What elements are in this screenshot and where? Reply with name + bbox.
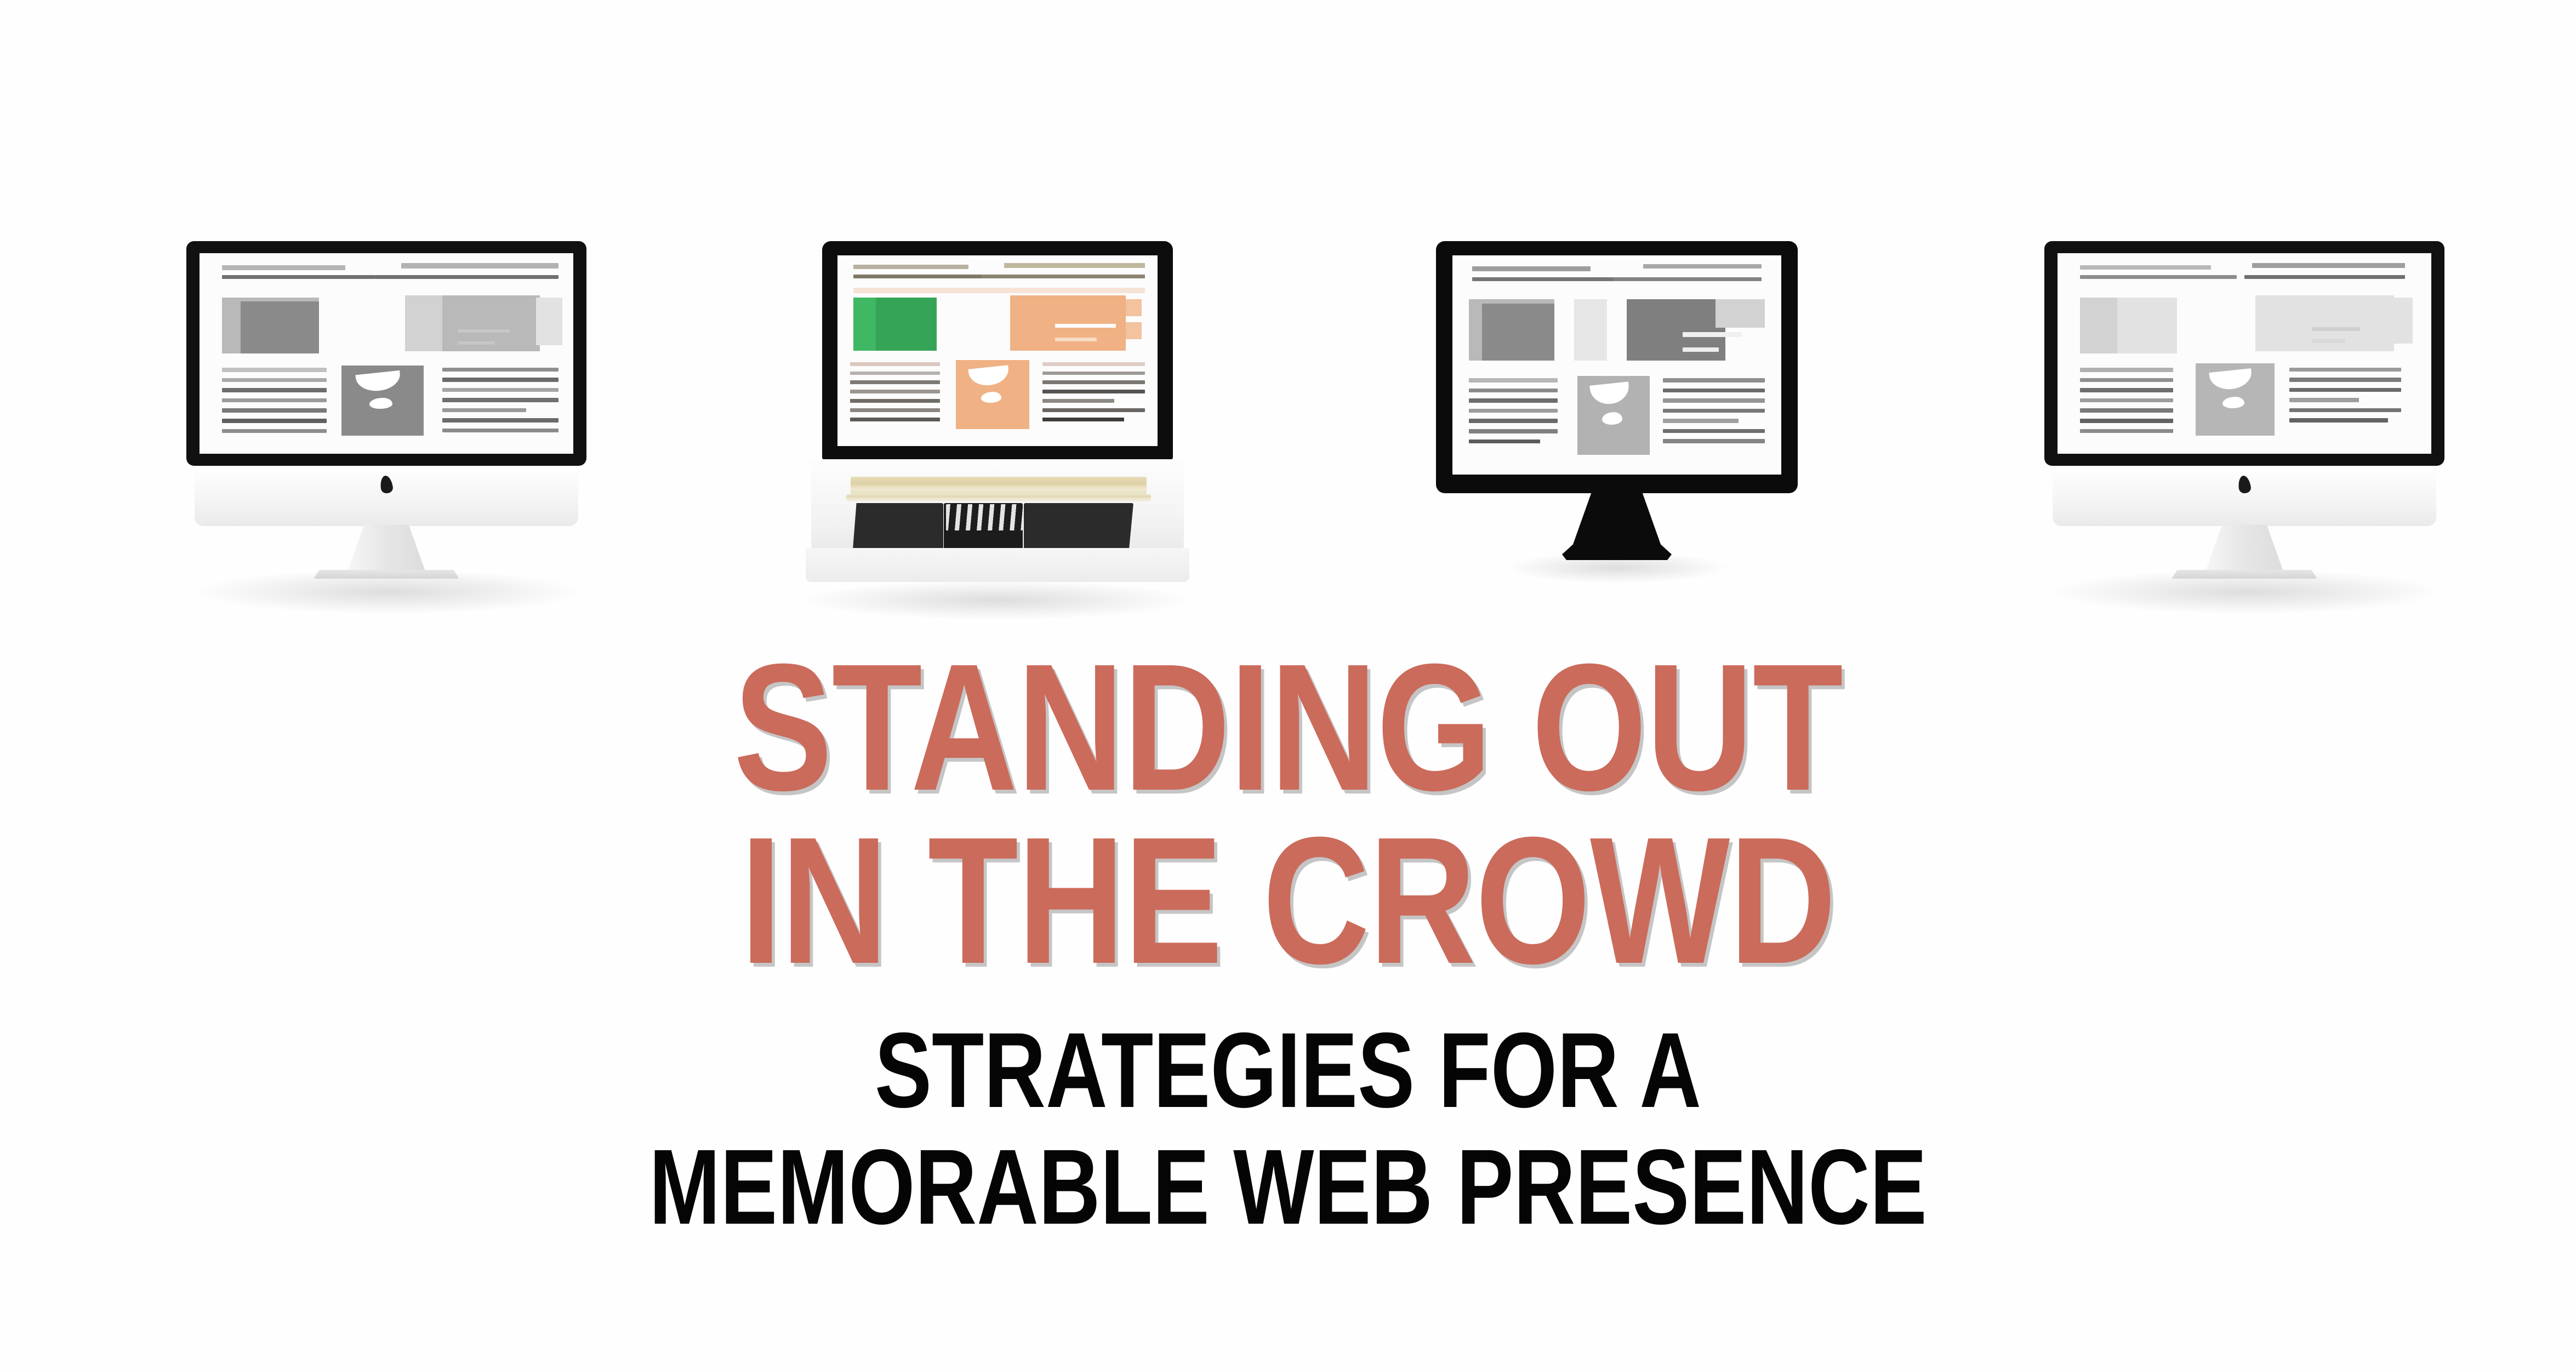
screen-content — [1452, 255, 1781, 475]
screen-content — [837, 255, 1158, 446]
laptop-keys-highlight — [946, 504, 1023, 530]
device-imac-right — [2044, 241, 2444, 614]
monitor-neck — [2204, 525, 2284, 574]
poster-canvas: STANDING OUT IN THE CROWD STRATEGIES FOR… — [0, 0, 2576, 1370]
device-shadow — [806, 581, 1189, 619]
headline-line-2: IN THE CROWD — [232, 817, 2344, 984]
monitor-neck — [346, 525, 426, 574]
device-showcase-row — [0, 0, 2576, 625]
laptop-keyboard-right — [1024, 503, 1133, 549]
screen-image-placeholder — [956, 360, 1029, 429]
device-lcd-monitor — [1436, 241, 1798, 592]
monitor-bezel — [1436, 241, 1798, 493]
screen-content — [2058, 253, 2431, 454]
laptop-keyboard-left — [853, 503, 943, 549]
subtitle-line-2: MEMORABLE WEB PRESENCE — [258, 1134, 2318, 1241]
monitor-chin — [2053, 466, 2437, 526]
screen-image-placeholder — [341, 366, 424, 436]
laptop-lid — [822, 241, 1173, 460]
monitor-bezel — [2044, 241, 2444, 466]
screen-image-placeholder — [2196, 363, 2274, 436]
laptop-hinge-shadow — [846, 494, 1151, 501]
monitor-bezel — [186, 241, 586, 466]
subtitle-line-1: STRATEGIES FOR A — [258, 1017, 2318, 1124]
device-laptop — [806, 241, 1189, 619]
monitor-neck — [1562, 489, 1672, 560]
monitor-foot — [314, 570, 459, 579]
laptop-hinge-strip — [851, 477, 1147, 494]
screen-image-placeholder — [1577, 376, 1650, 455]
hero-text-block: STANDING OUT IN THE CROWD STRATEGIES FOR… — [0, 644, 2576, 1241]
screen-content — [200, 253, 573, 454]
monitor-chin — [195, 466, 579, 526]
headline-line-1: STANDING OUT — [232, 644, 2344, 810]
laptop-front-lip — [806, 548, 1189, 582]
monitor-foot — [2172, 570, 2317, 579]
device-imac-left — [186, 241, 586, 614]
